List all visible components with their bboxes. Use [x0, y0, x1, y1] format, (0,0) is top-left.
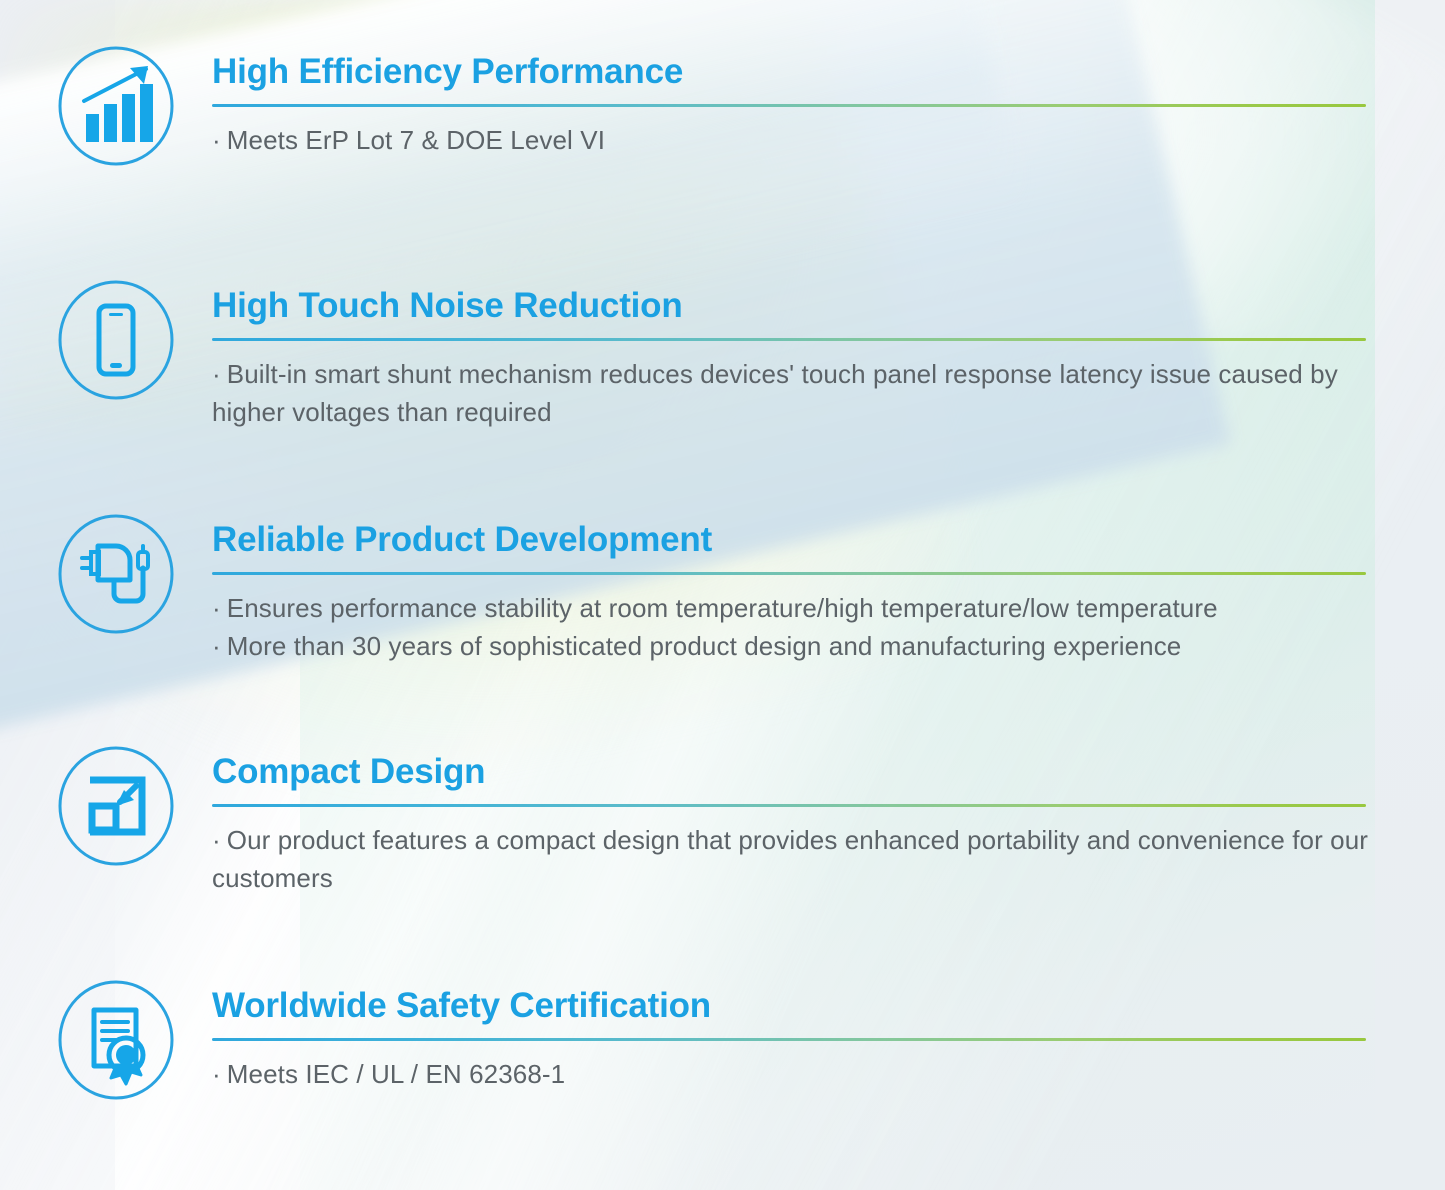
- feature-bullet: ·Ensures performance stability at room t…: [212, 589, 1392, 627]
- feature-title: Worldwide Safety Certification: [212, 984, 1445, 1028]
- feature-divider-rule: [212, 104, 1366, 107]
- bullet-text: More than 30 years of sophisticated prod…: [227, 631, 1182, 661]
- bullet-marker: ·: [212, 593, 221, 623]
- bar-chart-growth-icon: [54, 44, 178, 168]
- feature-bullet-list: ·Built-in smart shunt mechanism reduces …: [212, 355, 1445, 431]
- bullet-marker: ·: [212, 631, 221, 661]
- feature-title: High Efficiency Performance: [212, 50, 1445, 94]
- feature-list: High Efficiency Performance ·Meets ErP L…: [0, 0, 1445, 1190]
- feature-highlights-page: High Efficiency Performance ·Meets ErP L…: [0, 0, 1445, 1190]
- feature-text-block: High Touch Noise Reduction ·Built-in sma…: [212, 278, 1445, 431]
- feature-text-block: High Efficiency Performance ·Meets ErP L…: [212, 44, 1445, 159]
- feature-bullet-list: ·Meets IEC / UL / EN 62368-1: [212, 1055, 1445, 1093]
- smartphone-icon: [54, 278, 178, 402]
- bullet-marker: ·: [212, 359, 221, 389]
- feature-divider-rule: [212, 804, 1366, 807]
- bullet-marker: ·: [212, 125, 221, 155]
- feature-bullet: ·Meets IEC / UL / EN 62368-1: [212, 1055, 1392, 1093]
- feature-item-compact-design: Compact Design ·Our product features a c…: [0, 744, 1445, 897]
- feature-bullet-list: ·Our product features a compact design t…: [212, 821, 1445, 897]
- bullet-text: Meets IEC / UL / EN 62368-1: [227, 1059, 565, 1089]
- bullet-text: Built-in smart shunt mechanism reduces d…: [212, 359, 1338, 427]
- feature-item-reliable-product-development: Reliable Product Development ·Ensures pe…: [0, 512, 1445, 665]
- feature-item-high-efficiency-performance: High Efficiency Performance ·Meets ErP L…: [0, 44, 1445, 168]
- feature-item-worldwide-safety-certification: Worldwide Safety Certification ·Meets IE…: [0, 978, 1445, 1102]
- compact-resize-icon: [54, 744, 178, 868]
- feature-title: Compact Design: [212, 750, 1445, 794]
- feature-icon-container: [52, 744, 180, 868]
- feature-divider-rule: [212, 1038, 1366, 1041]
- bullet-text: Meets ErP Lot 7 & DOE Level VI: [227, 125, 605, 155]
- feature-divider-rule: [212, 572, 1366, 575]
- feature-bullet: ·Meets ErP Lot 7 & DOE Level VI: [212, 121, 1392, 159]
- feature-icon-container: [52, 512, 180, 636]
- feature-item-high-touch-noise-reduction: High Touch Noise Reduction ·Built-in sma…: [0, 278, 1445, 431]
- feature-bullet-list: ·Ensures performance stability at room t…: [212, 589, 1445, 665]
- feature-bullet-list: ·Meets ErP Lot 7 & DOE Level VI: [212, 121, 1445, 159]
- feature-divider-rule: [212, 338, 1366, 341]
- feature-bullet: ·Built-in smart shunt mechanism reduces …: [212, 355, 1392, 431]
- feature-bullet: ·More than 30 years of sophisticated pro…: [212, 627, 1392, 665]
- feature-title: High Touch Noise Reduction: [212, 284, 1445, 328]
- feature-text-block: Worldwide Safety Certification ·Meets IE…: [212, 978, 1445, 1093]
- bullet-marker: ·: [212, 1059, 221, 1089]
- feature-icon-container: [52, 44, 180, 168]
- feature-title: Reliable Product Development: [212, 518, 1445, 562]
- feature-icon-container: [52, 978, 180, 1102]
- feature-icon-container: [52, 278, 180, 402]
- bullet-marker: ·: [212, 825, 221, 855]
- bullet-text: Our product features a compact design th…: [212, 825, 1368, 893]
- certificate-award-icon: [54, 978, 178, 1102]
- bullet-text: Ensures performance stability at room te…: [227, 593, 1218, 623]
- feature-text-block: Compact Design ·Our product features a c…: [212, 744, 1445, 897]
- feature-bullet: ·Our product features a compact design t…: [212, 821, 1392, 897]
- power-adapter-icon: [54, 512, 178, 636]
- feature-text-block: Reliable Product Development ·Ensures pe…: [212, 512, 1445, 665]
